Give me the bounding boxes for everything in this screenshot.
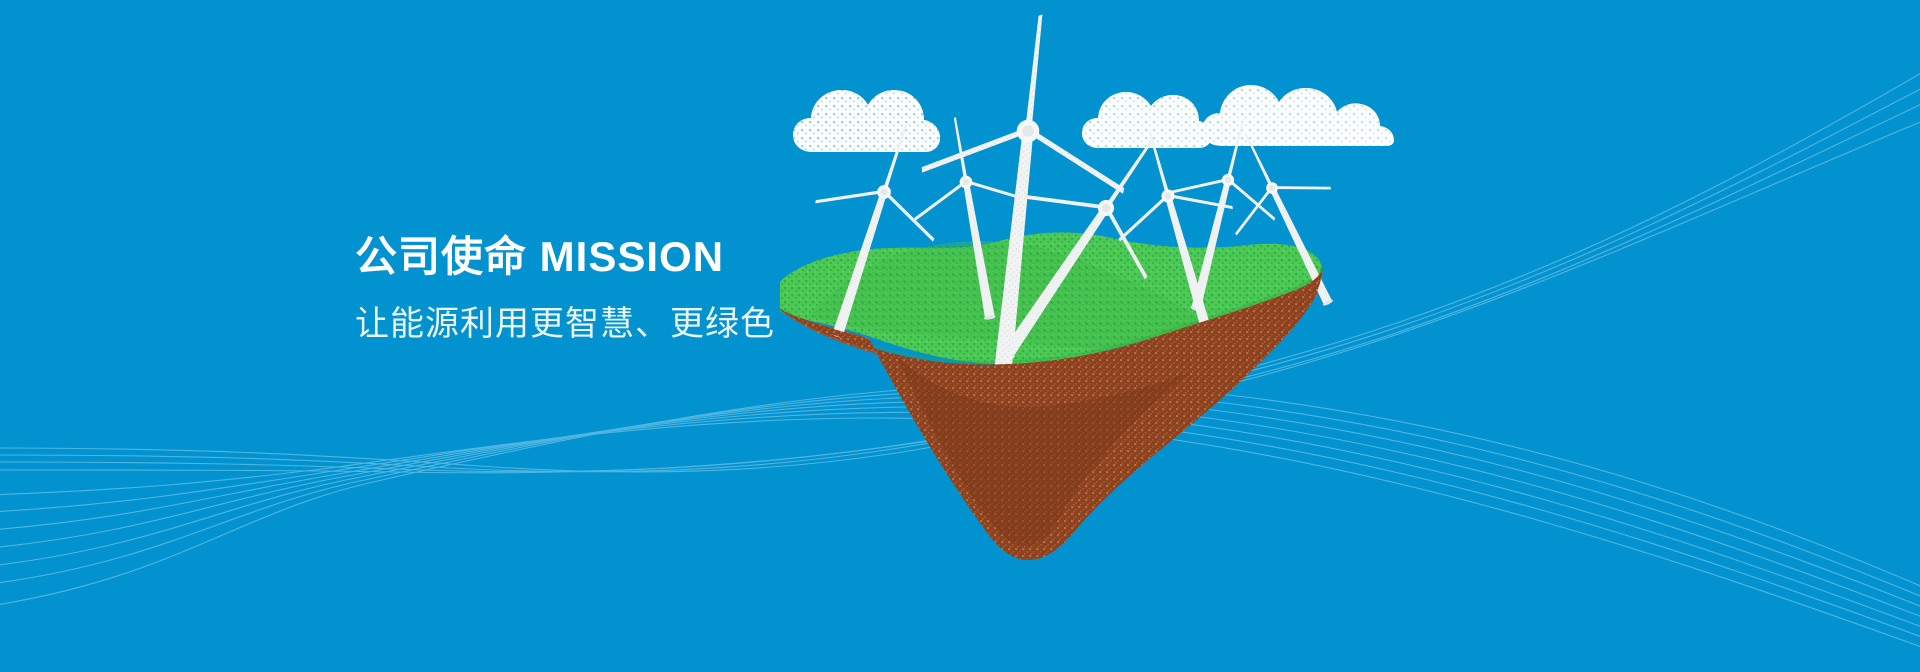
- cloud-mid: [1082, 92, 1212, 148]
- cloud-far-right: [1202, 85, 1394, 146]
- cloud-group: [793, 85, 1394, 152]
- mission-text-block: 公司使命 MISSION 让能源利用更智慧、更绿色: [355, 232, 775, 344]
- floating-island-illustration: [780, 0, 1920, 672]
- page-subtitle: 让能源利用更智慧、更绿色: [355, 304, 775, 345]
- mission-banner: 公司使命 MISSION 让能源利用更智慧、更绿色: [0, 0, 1920, 672]
- page-title: 公司使命 MISSION: [355, 232, 775, 282]
- cloud-left: [793, 90, 940, 152]
